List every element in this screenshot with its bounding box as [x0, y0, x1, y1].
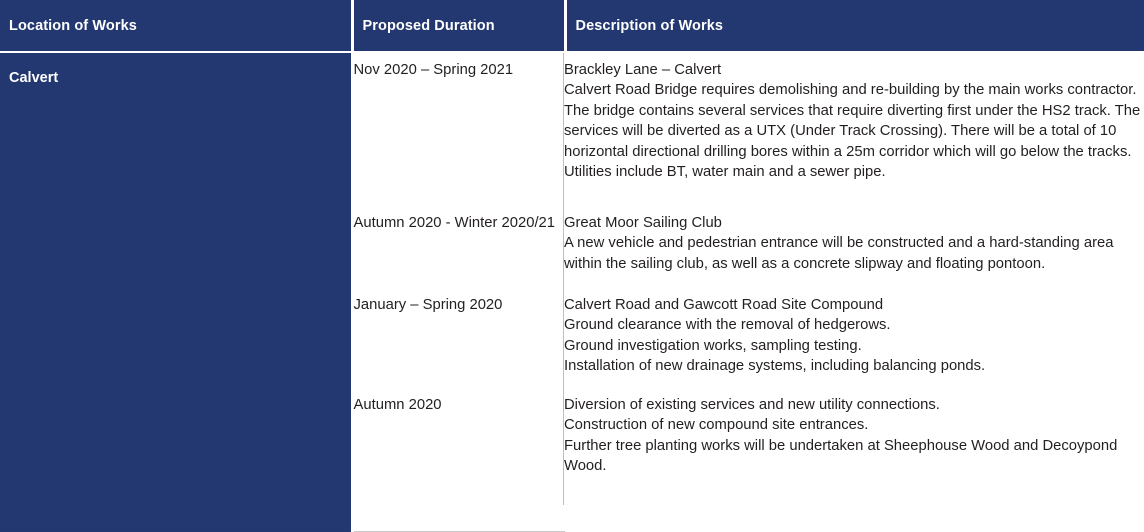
- description-title: Great Moor Sailing Club: [564, 213, 1144, 233]
- schedule-entry: January – Spring 2020 Calvert Road and G…: [354, 295, 1144, 395]
- description-title: Brackley Lane – Calvert: [564, 60, 1144, 80]
- description-line: Further tree planting works will be unde…: [564, 436, 1144, 477]
- description-line: Diversion of existing services and new u…: [564, 395, 1144, 415]
- cell-schedule-group: Nov 2020 – Spring 2021 Brackley Lane – C…: [352, 52, 565, 532]
- cell-duration: Autumn 2020: [354, 395, 564, 505]
- description-line: Construction of new compound site entran…: [564, 415, 1144, 435]
- column-header-description: Description of Works: [565, 0, 1144, 52]
- cell-description: Diversion of existing services and new u…: [564, 395, 1144, 505]
- cell-duration: Autumn 2020 - Winter 2020/21: [354, 213, 564, 295]
- schedule-subtable: Nov 2020 – Spring 2021 Brackley Lane – C…: [354, 53, 1144, 505]
- description-line: Installation of new drainage systems, in…: [564, 356, 1144, 376]
- table-body: Calvert Nov 2020 – Spring 2021 Brackley …: [0, 52, 1144, 532]
- schedule-entry: Nov 2020 – Spring 2021 Brackley Lane – C…: [354, 53, 1144, 213]
- works-schedule-table: Location of Works Proposed Duration Desc…: [0, 0, 1144, 532]
- column-header-location: Location of Works: [0, 0, 352, 52]
- description-line: Ground investigation works, sampling tes…: [564, 336, 1144, 356]
- description-line: A new vehicle and pedestrian entrance wi…: [564, 233, 1144, 274]
- cell-duration: January – Spring 2020: [354, 295, 564, 395]
- cell-description: Great Moor Sailing Club A new vehicle an…: [564, 213, 1144, 295]
- column-header-duration: Proposed Duration: [352, 0, 565, 52]
- schedule-entry: Autumn 2020 Diversion of existing servic…: [354, 395, 1144, 505]
- table-header: Location of Works Proposed Duration Desc…: [0, 0, 1144, 52]
- description-line: Calvert Road Bridge requires demolishing…: [564, 80, 1144, 182]
- schedule-entry: Autumn 2020 - Winter 2020/21 Great Moor …: [354, 213, 1144, 295]
- cell-duration: Nov 2020 – Spring 2021: [354, 53, 564, 213]
- cell-location-calvert: Calvert: [0, 52, 352, 532]
- cell-description: Brackley Lane – Calvert Calvert Road Bri…: [564, 53, 1144, 213]
- description-title: Calvert Road and Gawcott Road Site Compo…: [564, 295, 1144, 315]
- table-row: Calvert Nov 2020 – Spring 2021 Brackley …: [0, 52, 1144, 532]
- table-header-row: Location of Works Proposed Duration Desc…: [0, 0, 1144, 52]
- cell-description: Calvert Road and Gawcott Road Site Compo…: [564, 295, 1144, 395]
- description-line: Ground clearance with the removal of hed…: [564, 315, 1144, 335]
